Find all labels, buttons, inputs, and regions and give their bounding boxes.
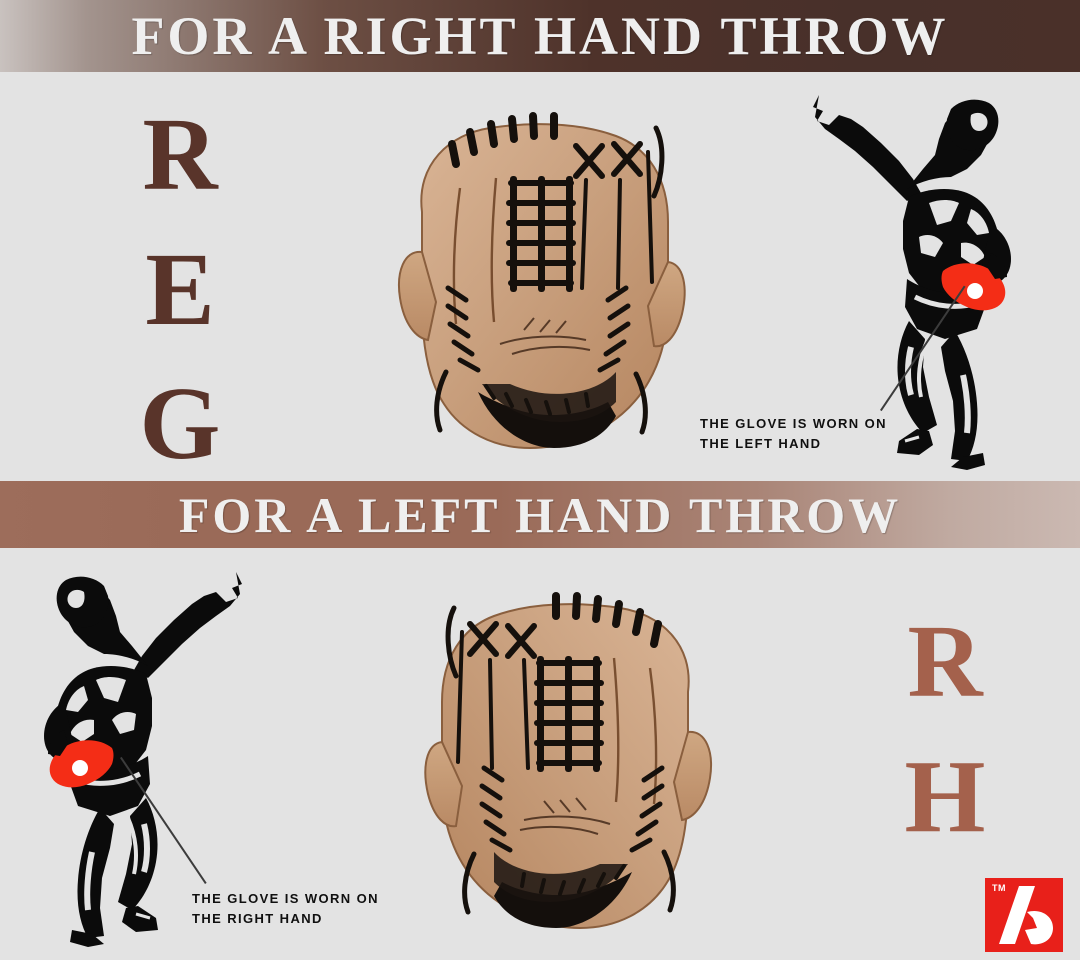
caption-top-line-1: THE GLOVE IS WORN ON <box>700 414 887 434</box>
caption-bottom: THE GLOVE IS WORN ON THE RIGHT HAND <box>192 889 379 929</box>
caption-bottom-line-2: THE RIGHT HAND <box>192 909 379 929</box>
big-letter-g-top: G <box>120 372 240 476</box>
baseball-glove-bottom <box>420 572 720 940</box>
caption-top-line-2: THE LEFT HAND <box>700 434 887 454</box>
banner-right-hand-throw-title: FOR A RIGHT HAND THROW <box>131 5 948 67</box>
trademark-label: TM <box>992 883 1006 893</box>
baseball-glove-top <box>390 92 690 460</box>
brand-logo: TM <box>985 878 1063 952</box>
big-letter-r-top: R <box>120 103 240 207</box>
big-letter-e-top: E <box>120 238 240 342</box>
banner-left-hand-throw: FOR A LEFT HAND THROW <box>0 481 1080 548</box>
banner-left-hand-throw-title: FOR A LEFT HAND THROW <box>179 486 901 544</box>
caption-bottom-line-1: THE GLOVE IS WORN ON <box>192 889 379 909</box>
big-letter-r-bottom: R <box>885 610 1005 714</box>
big-letter-h-bottom: H <box>885 745 1005 849</box>
caption-top: THE GLOVE IS WORN ON THE LEFT HAND <box>700 414 887 454</box>
pitcher-silhouette-top <box>795 85 1030 470</box>
glove-handedness-infographic: FOR A RIGHT HAND THROW R E G <box>0 0 1080 960</box>
banner-right-hand-throw: FOR A RIGHT HAND THROW <box>0 0 1080 72</box>
